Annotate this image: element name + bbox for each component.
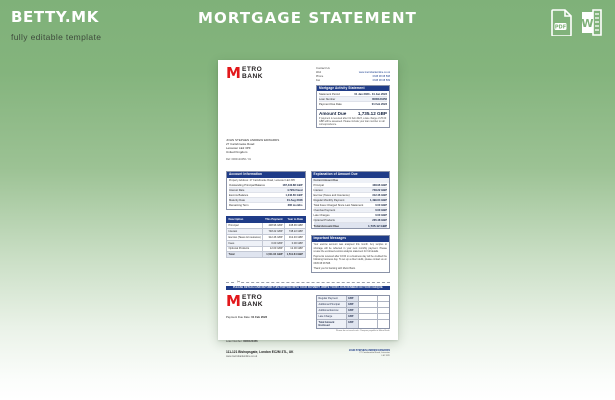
- contact-value-3: 0345 08 08 509: [373, 79, 390, 82]
- coupon-row-pence-4[interactable]: [377, 320, 389, 328]
- return-address: JOHN STEPHEN ANDREW EDWARDS 27 Carisbroo…: [349, 350, 390, 358]
- coupon-loan-number: Loan Number: 0000123456: [226, 340, 390, 343]
- coupon-payment-date-label: Payment Due Date:: [226, 315, 250, 319]
- coupon-grid-row: Total Amount Enclosed GBP: [317, 320, 389, 328]
- coupon-row-input-4[interactable]: [358, 320, 377, 328]
- explanation-panel: Explanation of Amount Due Current Amount…: [311, 171, 391, 229]
- coupon-row-label-3: Late Charge: [317, 314, 346, 319]
- brand-tagline: fully editable template: [11, 32, 101, 42]
- explanation-label-1: Interest: [314, 189, 323, 192]
- total-ytd: 1,511.64 GBP: [285, 252, 305, 258]
- account-label-2: Escrow Balance: [229, 194, 248, 197]
- coupon-loan-number-value: 0000123456: [243, 340, 257, 343]
- explanation-label-0: Principal: [314, 184, 324, 187]
- coupon-amount-grid[interactable]: Regular Payment GBP Additional Principal…: [316, 295, 390, 329]
- amount-due-label: Amount Due: [319, 111, 346, 116]
- statement-header: M ETRO BANK Contact Us Webwww.metrobanko…: [226, 67, 390, 128]
- payment-coupon: M ETRO BANK Payment Due Date: 01 Feb 202…: [226, 295, 390, 332]
- statement-row-value-0: 01 Jan 2023 - 31 Jan 2023: [354, 93, 387, 96]
- account-label-0: Outstanding Principal Balance: [229, 184, 265, 187]
- explanation-total-value: 1,735.12 GBP: [368, 224, 387, 228]
- logo-initial: M: [226, 67, 241, 80]
- message-paragraph-1: Payments received after 16:00 on a busin…: [314, 255, 388, 265]
- coupon-row-label-1: Additional Principal: [317, 302, 346, 307]
- account-label-4: Remaining Term: [229, 204, 249, 207]
- coupon-row-pence-2[interactable]: [377, 308, 389, 313]
- logo-bank-text: BANK: [242, 74, 263, 81]
- explanation-label-7: Optional Products: [314, 219, 335, 222]
- coupon-row-currency-3: GBP: [346, 314, 358, 319]
- explanation-value-4: 0.00 GBP: [375, 204, 387, 207]
- account-value-1: 4.79% Fixed: [287, 189, 302, 192]
- account-information-panel: Account Information Property Address: 27…: [226, 171, 306, 210]
- coupon-row-pence-0[interactable]: [377, 296, 389, 301]
- explanation-value-7: 235.48 GBP: [372, 219, 387, 222]
- total-label: Total: [227, 252, 263, 258]
- coupon-row-currency-1: GBP: [346, 302, 358, 307]
- bank-website: www.metrobankonline.co.uk: [226, 355, 293, 358]
- coupon-row-input-0[interactable]: [358, 296, 377, 301]
- account-value-0: 187,432.88 GBP: [282, 184, 302, 187]
- explanation-label-3: Regular Monthly Payment: [314, 199, 345, 202]
- explanation-total-label: Total Amount Due: [314, 224, 340, 228]
- statement-row-label-1: Loan Number: [319, 98, 335, 101]
- message-paragraph-0: Your escrow account was analysed this mo…: [314, 243, 388, 253]
- coupon-instruction: PLEASE DETACH AND RETURN THIS PORTION WI…: [226, 286, 390, 290]
- payment-summary-table: Description This Payment Year to Date Pr…: [226, 216, 306, 258]
- format-icons: PDF W: [551, 9, 602, 36]
- contact-label-3: Fax: [316, 79, 320, 82]
- coupon-logo-bank-text: BANK: [242, 302, 263, 309]
- bank-address: 111-121 Bishopsgate, London EC2M 3TL, UK: [226, 350, 293, 354]
- return-address-line-1: LE2 3PF: [349, 355, 390, 358]
- coupon-row-input-2[interactable]: [358, 308, 377, 313]
- total-this: 1,511.64 GBP: [263, 252, 285, 258]
- coupon-row-label-4: Total Amount Enclosed: [317, 320, 346, 328]
- account-value-2: 1,242.60 GBP: [285, 194, 302, 197]
- statement-summary-panel: Mortgage Activity Statement Statement Pe…: [316, 85, 390, 129]
- coupon-row-input-1[interactable]: [358, 302, 377, 307]
- coupon-metro-bank-logo: M ETRO BANK: [226, 295, 316, 308]
- page-title: MORTGAGE STATEMENT: [0, 9, 615, 27]
- metro-bank-logo: M ETRO BANK: [226, 67, 263, 80]
- statement-row-value-1: 0000123456: [372, 98, 387, 101]
- explanation-value-6: 0.00 GBP: [375, 214, 387, 217]
- account-label-1: Interest Rate: [229, 189, 244, 192]
- explanation-value-2: 312.46 GBP: [372, 194, 387, 197]
- document-preview[interactable]: M ETRO BANK Contact Us Webwww.metrobanko…: [218, 60, 398, 340]
- coupon-row-pence-1[interactable]: [377, 302, 389, 307]
- property-address: Property Address: 27 Carisbrooke Road, L…: [229, 179, 303, 182]
- coupon-payment-date-value: 01 Feb 2023: [251, 315, 267, 319]
- statement-row-label-0: Statement Period: [319, 93, 340, 96]
- word-file-icon[interactable]: W: [580, 9, 602, 36]
- coupon-row-pence-3[interactable]: [377, 314, 389, 319]
- tear-line: ✂: [226, 282, 390, 283]
- table-total-row: Total 1,511.64 GBP 1,511.64 GBP: [227, 252, 306, 258]
- coupon-row-label-2: Additional Escrow: [317, 308, 346, 313]
- account-value-3: 01 Aug 2048: [287, 199, 303, 202]
- account-label-3: Maturity Date: [229, 199, 245, 202]
- explanation-label-2: Escrow (Taxes and Insurance): [314, 194, 350, 197]
- coupon-row-currency-0: GBP: [346, 296, 358, 301]
- account-value-4: 306 months: [288, 204, 303, 207]
- amount-due-value: 1,735.12 GBP: [358, 111, 387, 116]
- statement-row-label-2: Payment Due Date: [319, 103, 342, 106]
- coupon-row-label-0: Regular Payment: [317, 296, 346, 301]
- explanation-label-5: Overdue Payment: [314, 209, 336, 212]
- explanation-value-0: 438.96 GBP: [372, 184, 387, 187]
- svg-text:W: W: [581, 17, 593, 30]
- recipient-address: JOHN STEPHEN ANDREW EDWARDS 27 Carisbroo…: [226, 138, 390, 162]
- coupon-row-input-3[interactable]: [358, 314, 377, 319]
- document-footer: 111-121 Bishopsgate, London EC2M 3TL, UK…: [226, 350, 390, 359]
- important-messages-panel: Important Messages Your escrow account w…: [311, 235, 391, 272]
- recipient-reference: Ref: 0000123456 / 01: [226, 158, 390, 162]
- explanation-value-5: 0.00 GBP: [375, 209, 387, 212]
- statement-row-value-2: 01 Feb 2023: [372, 103, 387, 106]
- coupon-row-currency-4: GBP: [346, 320, 358, 328]
- message-paragraph-2: Thank you for banking with Metro Bank.: [314, 267, 388, 270]
- scissors-icon: ✂: [236, 279, 241, 284]
- explanation-value-1: 748.22 GBP: [372, 189, 387, 192]
- coupon-logo-initial: M: [226, 295, 241, 308]
- coupon-grid-note: Please do not send cash. Cheques payable…: [316, 330, 390, 332]
- recipient-line-3: United Kingdom: [226, 150, 390, 154]
- pdf-file-icon[interactable]: PDF: [551, 9, 573, 36]
- svg-text:PDF: PDF: [555, 25, 566, 31]
- amount-due-note: If payment is received after 01 Feb 2023…: [317, 117, 389, 128]
- coupon-row-currency-2: GBP: [346, 308, 358, 313]
- explanation-value-3: 1,499.64 GBP: [370, 199, 387, 202]
- coupon-loan-number-label: Loan Number:: [226, 340, 242, 343]
- contact-block: Contact Us Webwww.metrobankonline.co.uk …: [316, 67, 390, 128]
- explanation-label-6: Late Charges: [314, 214, 330, 217]
- explanation-label-4: Total Fees Charged Since Last Statement: [314, 204, 364, 207]
